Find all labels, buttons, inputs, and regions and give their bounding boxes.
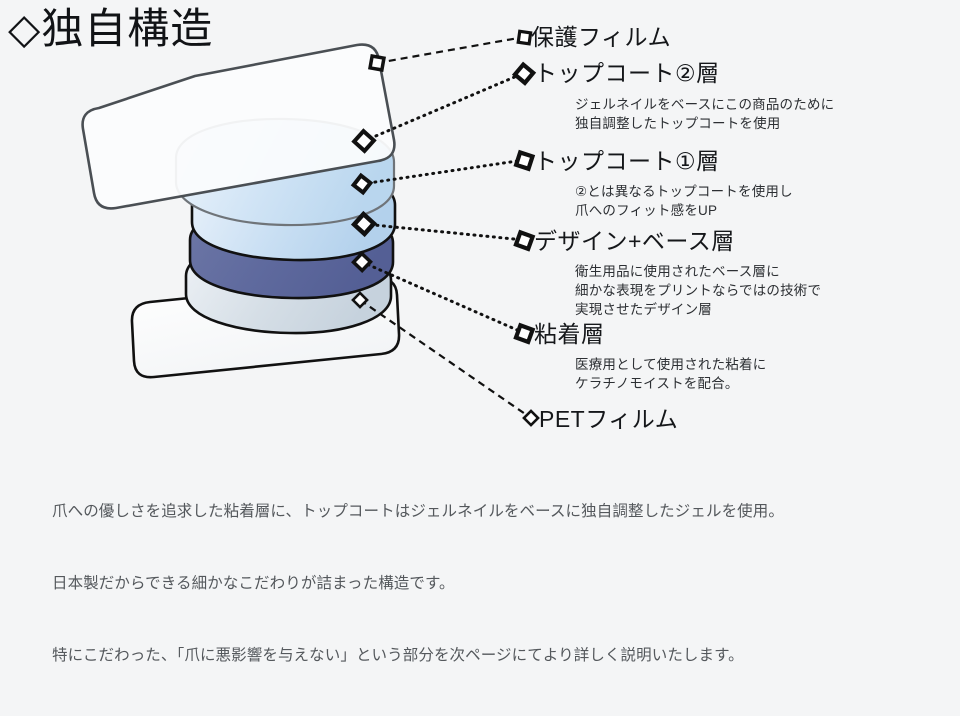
callout-label-top-coat-2[interactable]: トップコート②層 [534, 58, 720, 88]
label-marker-protective-film [518, 31, 530, 43]
callout-label-protective-film[interactable]: 保護フィルム [531, 22, 671, 52]
label-marker-design-base [516, 232, 533, 249]
callout-detail-top-coat-2: ジェルネイルをベースにこの商品のために 独自調整したトップコートを使用 [575, 95, 834, 133]
callout-detail-design-base: 衛生用品に使用されたベース層に 細かな表現をプリントならではの技術で 実現させた… [575, 262, 821, 319]
footer-line-3: 特にこだわった、「爪に悪影響を与えない」という部分を次ページにてより詳しく説明い… [52, 644, 784, 668]
callout-label-adhesive[interactable]: 粘着層 [534, 319, 605, 349]
label-marker-adhesive [516, 325, 533, 342]
footer-line-1: 爪への優しさを追求した粘着層に、トップコートはジェルネイルをベースに独自調整した… [52, 500, 784, 524]
label-marker-top-coat-2 [515, 65, 533, 83]
footer-paragraph: 爪への優しさを追求した粘着層に、トップコートはジェルネイルをベースに独自調整した… [52, 452, 784, 716]
label-marker-pet-film [524, 411, 538, 425]
callout-detail-adhesive: 医療用として使用された粘着に ケラチノモイストを配合。 [575, 355, 766, 393]
slide-canvas: ◇独自構造 [0, 0, 960, 540]
callout-label-pet-film[interactable]: PETフィルム [539, 404, 678, 434]
label-marker-top-coat-1 [516, 152, 532, 168]
marker-protective-film [370, 56, 384, 70]
callout-detail-top-coat-1: ②とは異なるトップコートを使用し 爪へのフィット感をUP [575, 182, 793, 220]
connector-protective-film [377, 37, 524, 63]
footer-line-2: 日本製だからできる細かなこだわりが詰まった構造です。 [52, 572, 784, 596]
callout-label-design-base[interactable]: デザイン+ベース層 [534, 226, 735, 256]
callout-label-top-coat-1[interactable]: トップコート①層 [534, 146, 720, 176]
